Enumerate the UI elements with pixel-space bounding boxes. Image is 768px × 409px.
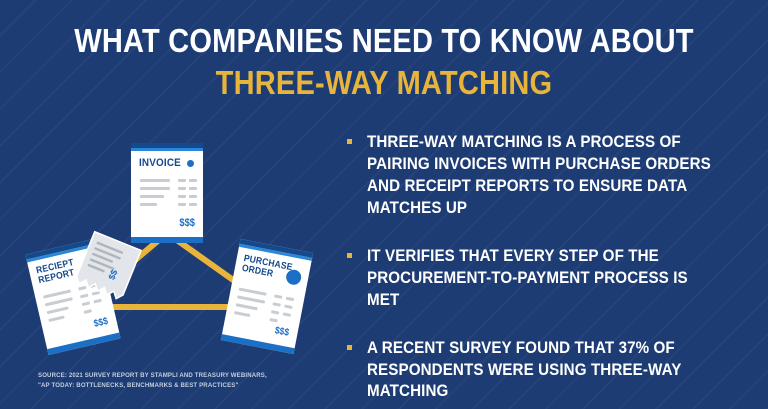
po-content-line — [272, 302, 280, 306]
invoice-content-line — [178, 187, 186, 190]
po-content-line — [237, 295, 265, 303]
receipt-content-line — [84, 309, 92, 314]
purchase-order-status-dot — [285, 268, 303, 286]
list-item-text: THREE-WAY MATCHING IS A PROCESS OF PAIRI… — [367, 132, 724, 220]
key-points-list: THREE-WAY MATCHING IS A PROCESS OF PAIRI… — [345, 132, 755, 409]
bullet-marker-icon — [347, 253, 352, 258]
invoice-content-line — [189, 179, 197, 182]
po-content-line — [269, 318, 277, 322]
bullet-marker-icon — [347, 345, 352, 350]
page-title: WHAT COMPANIES NEED TO KNOW ABOUT THREE-… — [0, 24, 768, 99]
invoice-status-dot — [187, 160, 194, 167]
source-citation: SOURCE: 2021 SURVEY REPORT BY STAMPLI AN… — [38, 371, 338, 391]
title-line-highlight: THREE-WAY MATCHING — [46, 66, 722, 99]
invoice-content-line — [140, 187, 170, 190]
invoice-content-line — [189, 203, 197, 206]
invoice-content-line — [140, 195, 164, 198]
bullet-marker-icon — [347, 139, 352, 144]
po-content-line — [271, 310, 279, 314]
receipt-content-line — [80, 294, 88, 299]
invoice-content-line — [178, 203, 186, 206]
invoice-bottom-bar — [131, 237, 203, 243]
list-item-text: IT VERIFIES THAT EVERY STEP OF THE PROCU… — [367, 246, 724, 312]
po-content-line — [234, 311, 250, 317]
three-way-matching-diagram: INVOICE $$$ RECIEPT REPORT — [18, 125, 336, 355]
invoice-content-line — [140, 179, 170, 182]
po-content-line — [284, 305, 292, 309]
invoice-content-line — [178, 195, 186, 198]
infographic-canvas: WHAT COMPANIES NEED TO KNOW ABOUT THREE-… — [0, 0, 768, 409]
invoice-content-line — [140, 203, 157, 206]
po-content-line — [283, 312, 291, 316]
invoice-accent-band — [131, 148, 203, 151]
receipt-content-line — [93, 299, 101, 304]
list-item: THREE-WAY MATCHING IS A PROCESS OF PAIRI… — [345, 132, 755, 220]
document-card-invoice: INVOICE $$$ — [131, 143, 203, 243]
receipt-content-line — [47, 306, 69, 314]
po-content-line — [236, 303, 258, 310]
po-content-line — [286, 297, 294, 301]
source-line-1: SOURCE: 2021 SURVEY REPORT BY STAMPLI AN… — [38, 371, 323, 381]
invoice-label: INVOICE — [139, 158, 181, 169]
purchase-order-amount: $$$ — [274, 325, 290, 339]
receipt-amount: $$$ — [93, 316, 109, 330]
invoice-content-line — [178, 179, 186, 182]
list-item: IT VERIFIES THAT EVERY STEP OF THE PROCU… — [345, 246, 755, 312]
invoice-content-line — [189, 187, 197, 190]
receipt-content-line — [82, 301, 90, 306]
invoice-amount: $$$ — [179, 217, 195, 229]
po-content-line — [274, 294, 282, 298]
receipt-content-line — [45, 297, 73, 306]
list-item-text: A RECENT SURVEY FOUND THAT 37% OF RESPON… — [367, 338, 724, 404]
invoice-content-line — [189, 195, 197, 198]
source-line-2: "AP TODAY: BOTTLENECKS, BENCHMARKS & BES… — [38, 381, 323, 391]
title-line-primary: WHAT COMPANIES NEED TO KNOW ABOUT — [46, 24, 722, 57]
receipt-content-line — [48, 316, 64, 323]
receipt-report-label: RECIEPT REPORT — [35, 258, 77, 285]
list-item: A RECENT SURVEY FOUND THAT 37% OF RESPON… — [345, 338, 755, 404]
po-content-line — [239, 288, 267, 296]
